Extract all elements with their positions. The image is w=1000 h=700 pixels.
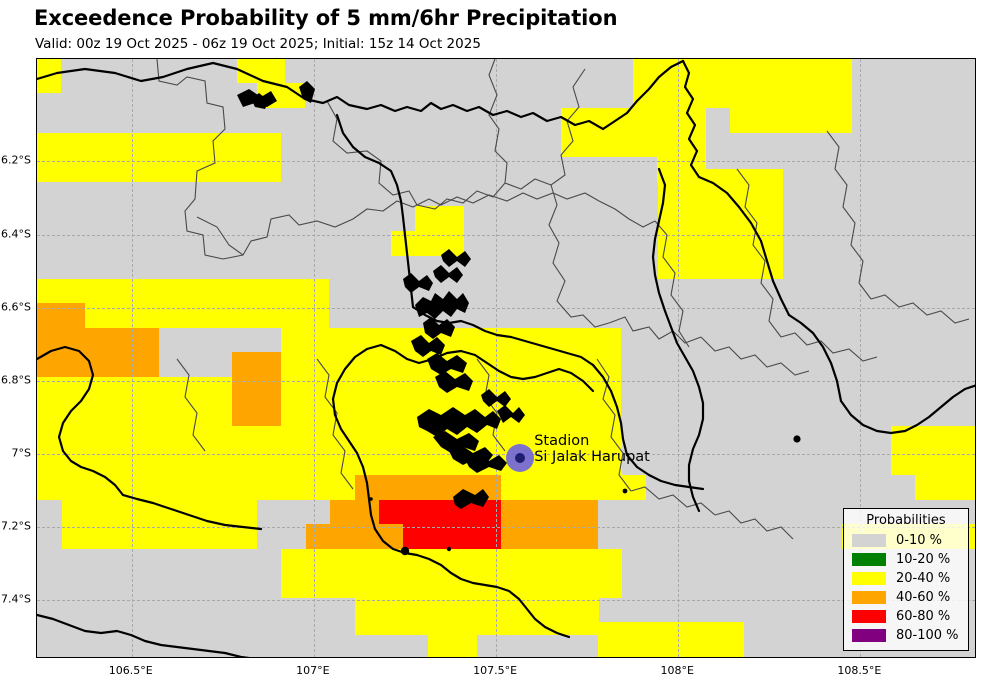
station-marker-label: Stadion Si Jalak Harupat xyxy=(534,434,650,465)
y-axis-tick-label: 6.6°S xyxy=(1,300,31,313)
legend-entry: 20-40 % xyxy=(852,569,960,588)
y-axis-tick-label: 7°S xyxy=(12,447,31,460)
legend-entry: 40-60 % xyxy=(852,588,960,607)
weather-map-page: Exceedence Probability of 5 mm/6hr Preci… xyxy=(0,0,1000,700)
legend-entry: 80-100 % xyxy=(852,626,960,645)
x-axis-tick-label: 106.5°E xyxy=(109,664,153,677)
x-axis-ticks: 106.5°E107°E107.5°E108°E108.5°E xyxy=(36,664,976,684)
map-plot-area[interactable]: Stadion Si Jalak Harupat Probabilities 0… xyxy=(36,58,976,658)
legend-title: Probabilities xyxy=(852,513,960,528)
y-axis-tick-label: 6.8°S xyxy=(1,373,31,386)
legend-entry: 60-80 % xyxy=(852,607,960,626)
legend-color-swatch xyxy=(852,534,886,547)
y-axis-tick-label: 7.2°S xyxy=(1,520,31,533)
y-axis-tick-label: 6.4°S xyxy=(1,227,31,240)
page-subtitle: Valid: 00z 19 Oct 2025 - 06z 19 Oct 2025… xyxy=(35,36,481,52)
legend-entry-label: 80-100 % xyxy=(896,628,959,643)
legend-entry-label: 60-80 % xyxy=(896,609,950,624)
legend-entry-label: 0-10 % xyxy=(896,533,942,548)
page-title: Exceedence Probability of 5 mm/6hr Preci… xyxy=(34,6,617,30)
legend: Probabilities 0-10 %10-20 %20-40 %40-60 … xyxy=(843,508,969,651)
legend-entry-label: 20-40 % xyxy=(896,571,950,586)
legend-color-swatch xyxy=(852,553,886,566)
station-marker[interactable] xyxy=(506,444,534,472)
x-axis-tick-label: 107.5°E xyxy=(473,664,517,677)
x-axis-tick-label: 107°E xyxy=(296,664,329,677)
regency-boundaries xyxy=(157,59,969,539)
map-canvas: Stadion Si Jalak Harupat Probabilities 0… xyxy=(37,59,975,657)
map-geography-layer xyxy=(37,59,976,658)
legend-entry: 10-20 % xyxy=(852,550,960,569)
legend-color-swatch xyxy=(852,629,886,642)
x-axis-tick-label: 108.5°E xyxy=(837,664,881,677)
urban-and-water-features xyxy=(237,81,801,555)
legend-color-swatch xyxy=(852,591,886,604)
y-axis-ticks: 6.2°S6.4°S6.6°S6.8°S7°S7.2°S7.4°S xyxy=(0,58,31,658)
legend-entry-label: 10-20 % xyxy=(896,552,950,567)
legend-color-swatch xyxy=(852,610,886,623)
legend-entries: 0-10 %10-20 %20-40 %40-60 %60-80 %80-100… xyxy=(852,531,960,645)
legend-entry: 0-10 % xyxy=(852,531,960,550)
legend-color-swatch xyxy=(852,572,886,585)
y-axis-tick-label: 6.2°S xyxy=(1,154,31,167)
legend-entry-label: 40-60 % xyxy=(896,590,950,605)
x-axis-tick-label: 108°E xyxy=(661,664,694,677)
y-axis-tick-label: 7.4°S xyxy=(1,593,31,606)
